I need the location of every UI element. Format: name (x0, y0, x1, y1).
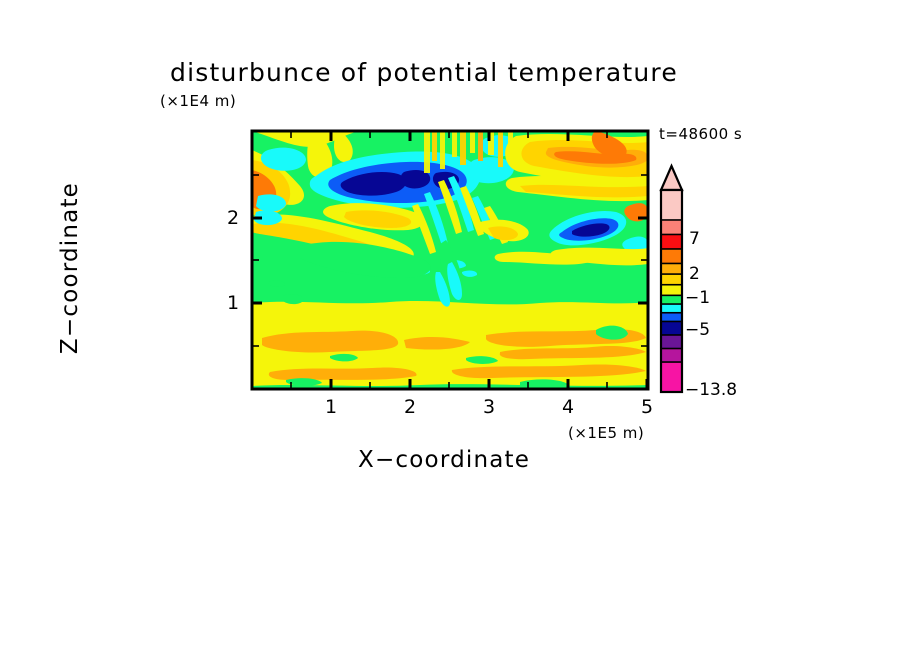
colorbar-band (661, 362, 682, 393)
colorbar-band (661, 349, 682, 363)
colorbar-band (661, 234, 682, 249)
colorbar-band (661, 274, 682, 285)
x-tick-label: 4 (553, 396, 583, 418)
colorbar-band (661, 220, 682, 235)
colorbar-label: −1 (685, 288, 710, 308)
y-tick-label: 1 (222, 292, 244, 314)
x-tick-label: 3 (474, 396, 504, 418)
colorbar-bands (661, 190, 682, 393)
contour-field (252, 131, 648, 389)
colorbar-arrow-top (661, 166, 682, 190)
colorbar-band (661, 249, 682, 264)
colorbar-label: 7 (689, 229, 700, 249)
colorbar-band (661, 321, 682, 335)
colorbar-band (661, 190, 682, 221)
contour-figure: disturbunce of potential temperature (×1… (0, 0, 904, 654)
x-tick-label: 1 (316, 396, 346, 418)
x-tick-label: 2 (395, 396, 425, 418)
colorbar-label: 2 (689, 264, 700, 284)
colorbar (661, 166, 682, 393)
y-tick-label: 2 (222, 207, 244, 229)
colorbar-band (661, 263, 682, 274)
colorbar-label: −5 (685, 320, 710, 340)
colorbar-label: −13.8 (685, 380, 737, 400)
colorbar-band (661, 335, 682, 349)
x-tick-label: 5 (632, 396, 662, 418)
plot-canvas (0, 0, 904, 654)
colorbar-band (661, 285, 682, 296)
